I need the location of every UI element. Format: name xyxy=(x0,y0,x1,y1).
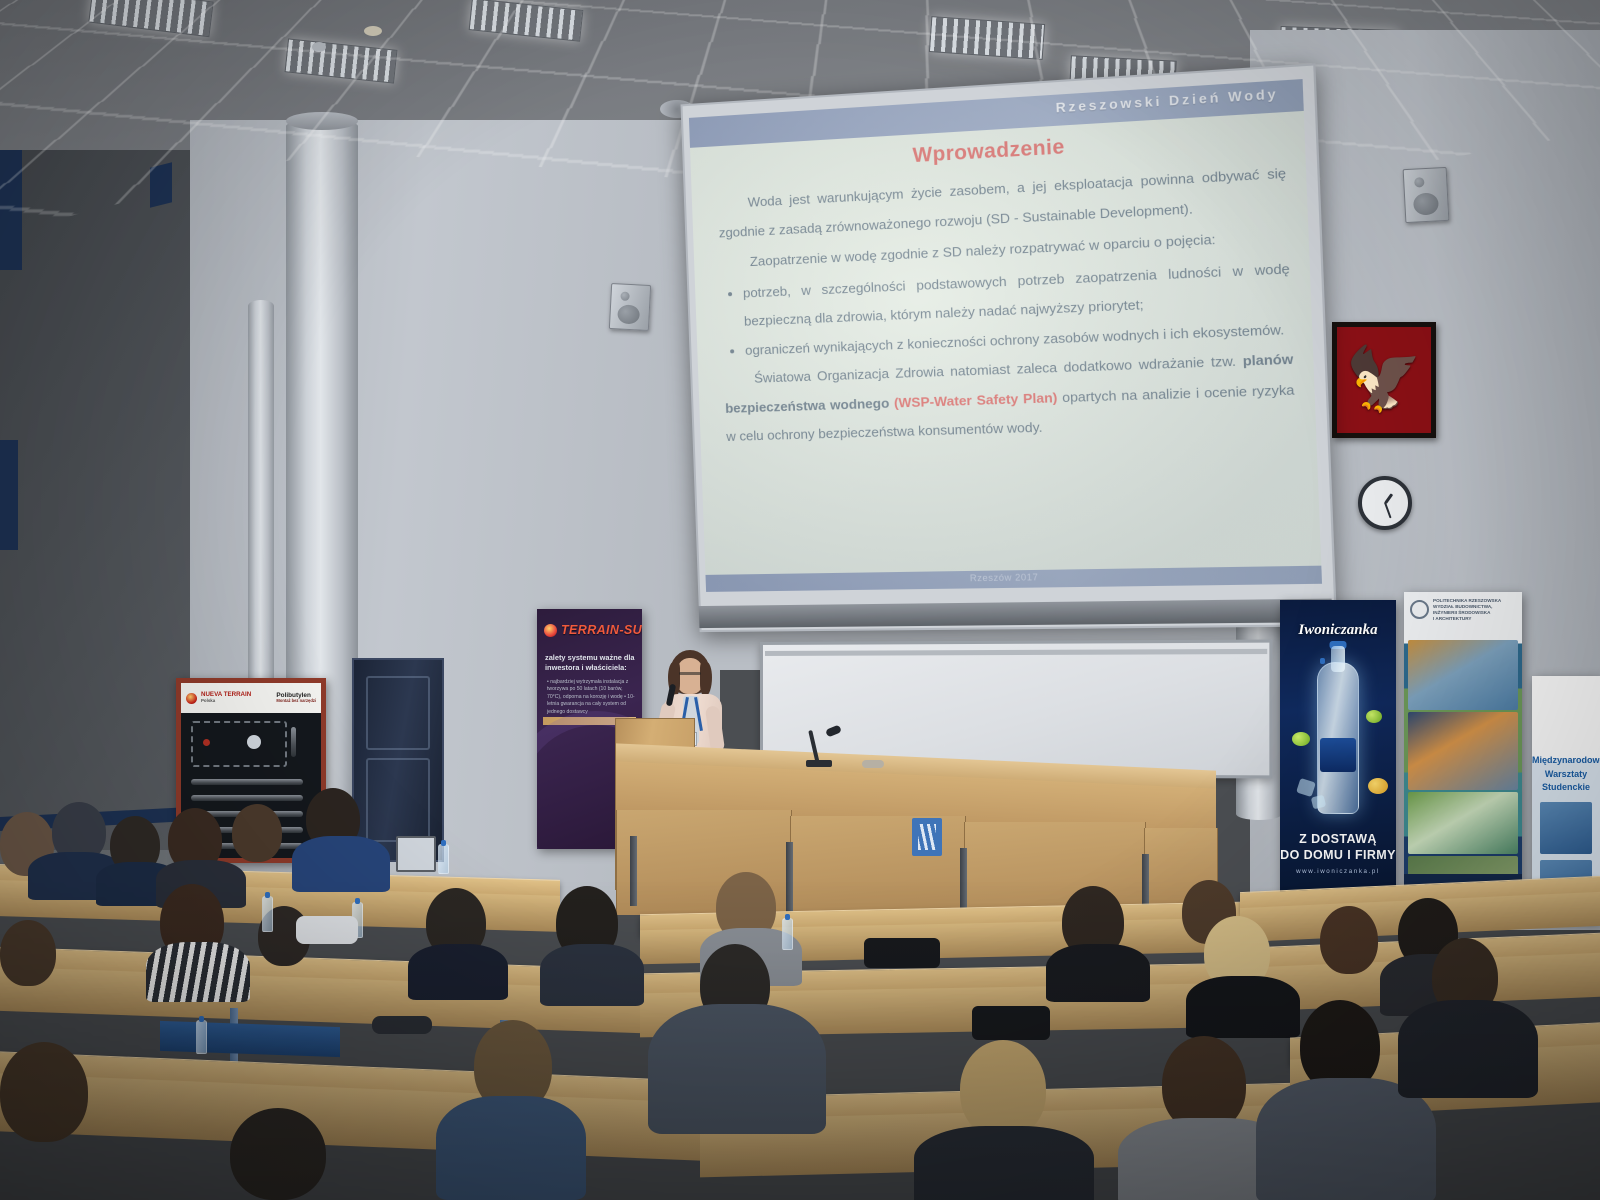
slide-body: Woda jest warunkującym życie zasobem, a … xyxy=(717,159,1300,552)
audience-head xyxy=(960,1040,1046,1138)
board-valve xyxy=(203,739,210,746)
microphone-base xyxy=(806,760,832,767)
picture-frame xyxy=(396,836,436,872)
door-panel xyxy=(366,758,430,842)
display-product-name: PolibutylenMontaż bez narzędzi xyxy=(276,692,316,704)
iwoniczanka-logo: Iwoniczanka xyxy=(1280,622,1396,639)
university-banner-title: POLITECHNIKA RZESZOWSKA WYDZIAŁ BUDOWNIC… xyxy=(1433,598,1501,622)
audience-head xyxy=(230,1108,326,1200)
bottle-label xyxy=(1320,738,1356,772)
audience-head xyxy=(0,920,56,986)
audience-torso xyxy=(914,1126,1094,1200)
door-panel xyxy=(366,676,430,750)
university-logo-icon xyxy=(1410,600,1429,619)
table-leg xyxy=(960,848,967,914)
workshops-photo xyxy=(1540,802,1592,854)
whiteboard-rail xyxy=(765,649,1267,656)
bench-seat xyxy=(160,1021,340,1057)
wall-accent-stripe xyxy=(150,162,172,207)
board-valve xyxy=(247,735,261,749)
table-leg xyxy=(630,836,637,906)
flame-icon xyxy=(544,624,557,637)
banner-iwoniczanka: Iwoniczanka Z DOSTAWĄ DO DOMU I FIRMY ww… xyxy=(1280,600,1396,910)
ice-cube-icon xyxy=(1296,778,1316,797)
workshops-heading: MiędzynarodoweWarsztatyStudenckie xyxy=(1532,754,1600,795)
audience-torso xyxy=(1398,1000,1538,1098)
display-brand-name: NUEVA TERRAINPolska xyxy=(201,692,251,704)
wall-speaker xyxy=(609,283,651,331)
iwoniczanka-tagline-1: Z DOSTAWĄ xyxy=(1280,832,1396,846)
wall-accent-stripe xyxy=(0,150,22,270)
water-bottle xyxy=(196,1020,207,1054)
banner-photo xyxy=(1408,712,1518,790)
board-pipe xyxy=(191,779,303,785)
table-leg xyxy=(786,842,793,912)
audience-torso xyxy=(1046,944,1150,1002)
lemon-slice-icon xyxy=(1368,778,1388,794)
jacket-on-desk xyxy=(296,916,358,944)
handbag xyxy=(972,1006,1050,1040)
audience-torso xyxy=(146,942,250,1002)
water-bottle xyxy=(438,844,449,874)
wall-clock xyxy=(1358,476,1412,530)
hall-door[interactable] xyxy=(352,658,444,862)
lecture-hall-scene: 🦅 Rzeszowski Dzień Wody Wprowadzenie Wod… xyxy=(0,0,1600,1200)
lime-slice-icon xyxy=(1292,732,1310,746)
table-logo-plate xyxy=(912,818,942,856)
audience-head xyxy=(0,1042,88,1142)
presenter-hair-side xyxy=(700,662,712,696)
presentation-slide: Rzeszowski Dzień Wody Wprowadzenie Woda … xyxy=(689,79,1322,592)
wall-left-shadowed xyxy=(0,150,190,850)
water-bottle xyxy=(782,918,793,950)
audience-torso xyxy=(1186,976,1300,1038)
terrain-brand-label: TERRAIN-SUP xyxy=(561,623,642,637)
iwoniczanka-url: www.iwoniczanka.pl xyxy=(1280,868,1396,875)
lime-slice-icon xyxy=(1366,710,1382,723)
banner-university: POLITECHNIKA RZESZOWSKA WYDZIAŁ BUDOWNIC… xyxy=(1404,592,1522,914)
audience-head xyxy=(1320,906,1378,974)
terrain-logo-row: TERRAIN-SUP xyxy=(544,623,636,637)
wall-accent-stripe xyxy=(0,440,18,550)
board-pipe xyxy=(191,795,303,801)
audience-torso xyxy=(540,944,644,1006)
nueva-terrain-logo-icon xyxy=(186,693,197,704)
audience-torso xyxy=(292,836,390,892)
water-bottle xyxy=(262,896,273,932)
banner-photo xyxy=(1408,640,1518,710)
eagle-icon: 🦅 xyxy=(1345,349,1422,411)
terrain-headline: zalety systemu ważne dla inwestora i wła… xyxy=(545,653,636,673)
university-logo-row: POLITECHNIKA RZESZOWSKA WYDZIAŁ BUDOWNIC… xyxy=(1410,598,1501,622)
ceiling-smoke-detector xyxy=(364,26,382,36)
laptop-on-desk xyxy=(372,1016,432,1034)
audience-torso xyxy=(408,944,508,1000)
banner-photo xyxy=(1408,792,1518,854)
audience-head xyxy=(232,804,282,862)
iwoniczanka-tagline-2: DO DOMU I FIRMY xyxy=(1280,848,1396,862)
board-pipe xyxy=(291,727,296,757)
polish-eagle-emblem: 🦅 xyxy=(1332,322,1436,438)
display-board-header: NUEVA TERRAINPolska PolibutylenMontaż be… xyxy=(181,683,321,713)
slide-footer-text: Rzeszów 2017 xyxy=(706,568,1322,587)
audience-torso xyxy=(648,1004,826,1134)
audience-torso xyxy=(436,1096,586,1200)
projection-screen: Rzeszowski Dzień Wody Wprowadzenie Woda … xyxy=(681,64,1333,629)
slide-p3-highlight: (WSP-Water Safety Plan) xyxy=(894,389,1058,410)
desk-object xyxy=(862,760,884,768)
presenter-glasses xyxy=(679,672,701,675)
wall-speaker xyxy=(1403,167,1450,223)
ceiling-vent xyxy=(312,42,326,52)
bag-on-desk xyxy=(864,938,940,968)
column-capital xyxy=(286,112,358,130)
